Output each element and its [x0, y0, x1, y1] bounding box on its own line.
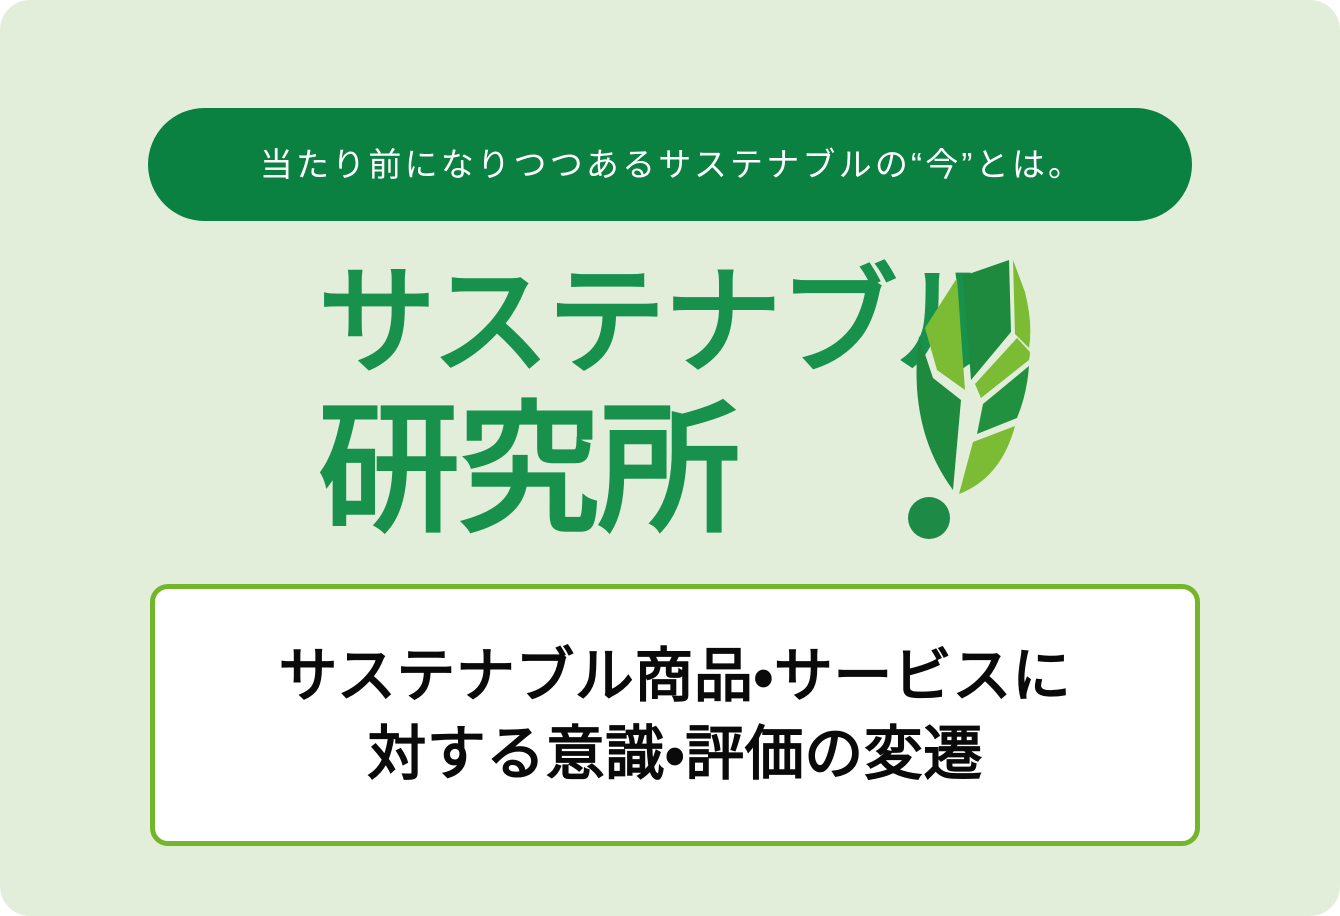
- subtitle-card: サステナブル商品・サービスに 対する意識・評価の変遷: [150, 584, 1200, 846]
- brand-logo: サステナブル 研究所: [318, 252, 1038, 552]
- headline-pill-text: 当たり前になりつつあるサステナブルの“今”とは。: [256, 148, 1084, 181]
- headline-pill-banner: 当たり前になりつつあるサステナブルの“今”とは。: [148, 108, 1192, 221]
- subtitle-line-2: 対する意識・評価の変遷: [367, 715, 983, 793]
- subtitle-line-1: サステナブル商品・サービスに: [279, 637, 1072, 715]
- brand-logo-line-2: 研究所: [318, 400, 738, 542]
- poster-canvas: 当たり前になりつつあるサステナブルの“今”とは。 サステナブル 研究所: [0, 0, 1340, 916]
- leaf-icon: [893, 252, 1038, 542]
